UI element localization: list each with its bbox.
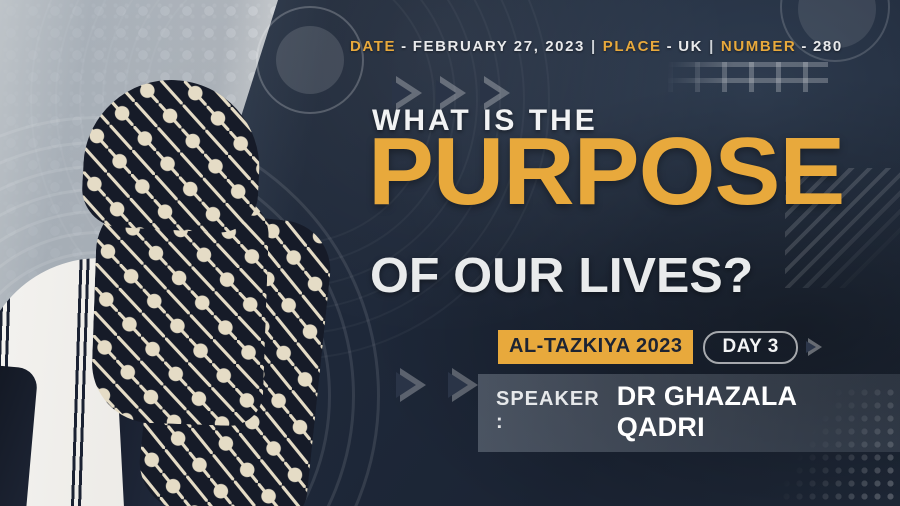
number-value: 280 xyxy=(813,38,843,55)
poster-content: DATE-FEBRUARY 27, 2023|PLACE-UK|NUMBER-2… xyxy=(0,0,900,506)
number-label: NUMBER xyxy=(721,38,796,55)
number-dash: - xyxy=(796,38,813,55)
day-badge: DAY 3 xyxy=(703,331,797,364)
date-value: FEBRUARY 27, 2023 xyxy=(413,38,585,55)
meta-sep-2: | xyxy=(703,38,721,55)
badge-row: AL-TAZKIYA 2023 DAY 3 xyxy=(498,330,822,364)
event-poster: DATE-FEBRUARY 27, 2023|PLACE-UK|NUMBER-2… xyxy=(0,0,900,506)
place-value: UK xyxy=(678,38,703,55)
speaker-name: DR GHAZALA QADRI xyxy=(617,381,880,443)
event-name-badge: AL-TAZKIYA 2023 xyxy=(498,330,693,364)
place-label: PLACE xyxy=(603,38,662,55)
title-line-3: OF OUR LIVES? xyxy=(370,252,753,301)
triangle-arrow-icon-badge xyxy=(808,338,822,356)
title-headline: PURPOSE xyxy=(368,126,844,218)
meta-sep-1: | xyxy=(585,38,603,55)
place-dash: - xyxy=(662,38,679,55)
speaker-bar: SPEAKER : DR GHAZALA QADRI xyxy=(478,374,900,452)
date-dash: - xyxy=(396,38,413,55)
speaker-label: SPEAKER : xyxy=(496,388,609,434)
date-label: DATE xyxy=(350,38,396,55)
event-meta-line: DATE-FEBRUARY 27, 2023|PLACE-UK|NUMBER-2… xyxy=(350,38,843,55)
